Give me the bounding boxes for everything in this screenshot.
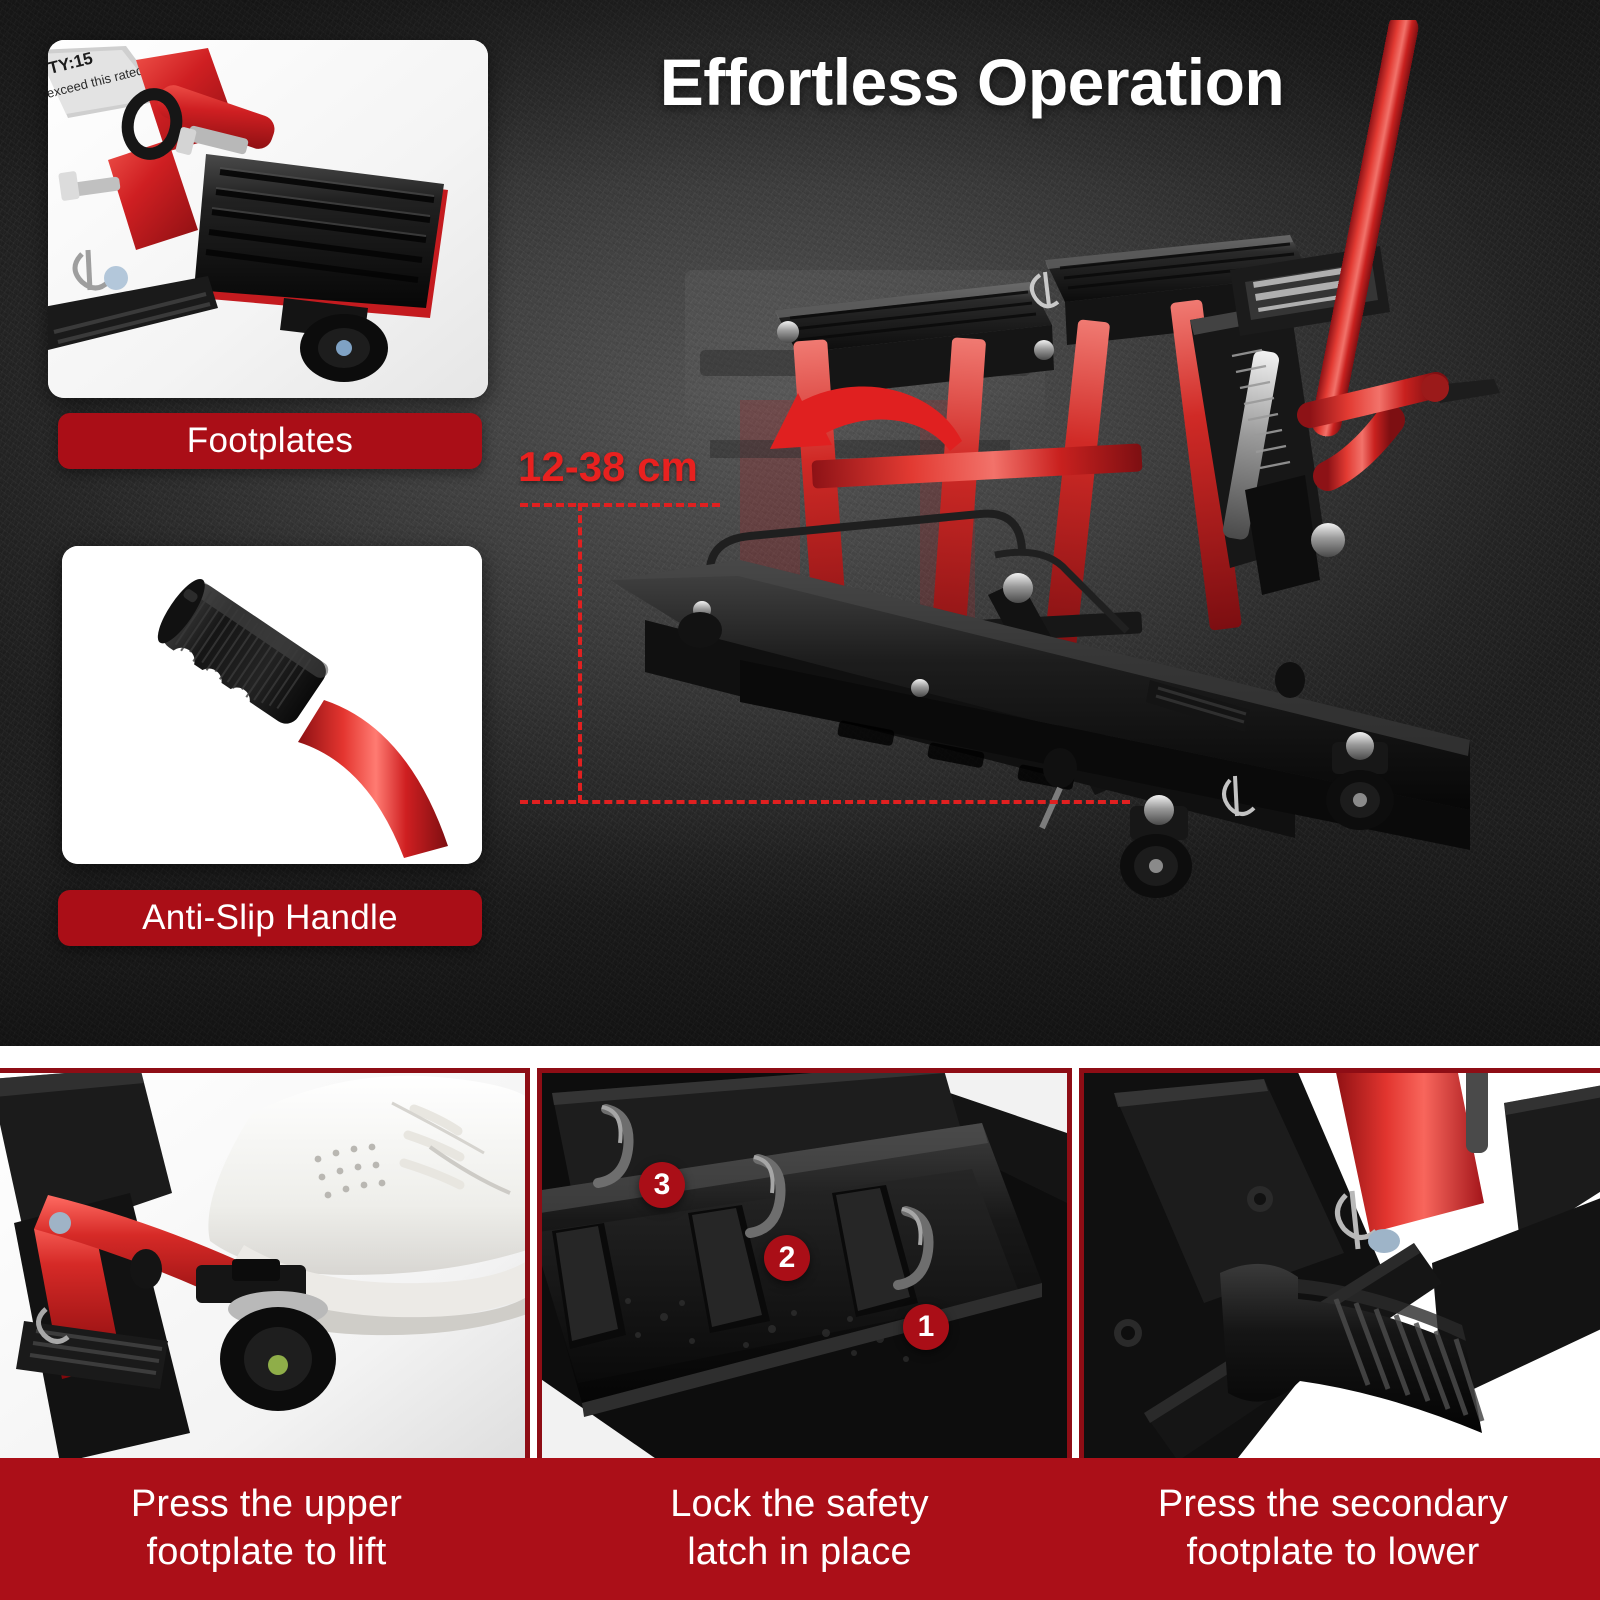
label-anti-slip-handle: Anti-Slip Handle [58, 890, 482, 946]
product-illustration [590, 20, 1600, 1030]
caption-line: Lock the safety [670, 1481, 929, 1529]
label-footplates: Footplates [58, 413, 482, 469]
latch-marker-2: 2 [764, 1235, 810, 1281]
caption-line: footplate to lift [131, 1529, 402, 1577]
caption-text-3: Press the secondary footplate to lower [1144, 1481, 1522, 1577]
inset-photo-handle [62, 546, 482, 864]
caption-line: Press the secondary [1158, 1481, 1508, 1529]
caption-line: footplate to lower [1158, 1529, 1508, 1577]
caption-line: latch in place [670, 1529, 929, 1577]
latch-marker-1: 1 [903, 1304, 949, 1350]
dimension-line-top [520, 503, 720, 507]
latch-marker-3: 3 [639, 1162, 685, 1208]
dimension-line-vertical [578, 503, 582, 803]
page-title: Effortless Operation [532, 48, 1412, 117]
dimension-line-bottom [520, 800, 1130, 804]
dimension-label: 12-38 cm [518, 443, 698, 491]
caption-text-2: Lock the safety latch in place [656, 1481, 943, 1577]
inset-photo-footplates: TY:15 exceed this rated [48, 40, 488, 398]
caption-band-1: Press the upper footplate to lift [0, 1458, 533, 1600]
caption-line: Press the upper [131, 1481, 402, 1529]
caption-text-1: Press the upper footplate to lift [117, 1481, 416, 1577]
caption-band-3: Press the secondary footplate to lower [1066, 1458, 1600, 1600]
step-panel-press-secondary-footplate [1079, 1068, 1600, 1468]
infographic-page: Effortless Operation [0, 0, 1600, 1600]
caption-band-2: Lock the safety latch in place [533, 1458, 1066, 1600]
curved-arrow-icon [740, 375, 970, 485]
step-panel-press-upper-footplate [0, 1068, 530, 1468]
